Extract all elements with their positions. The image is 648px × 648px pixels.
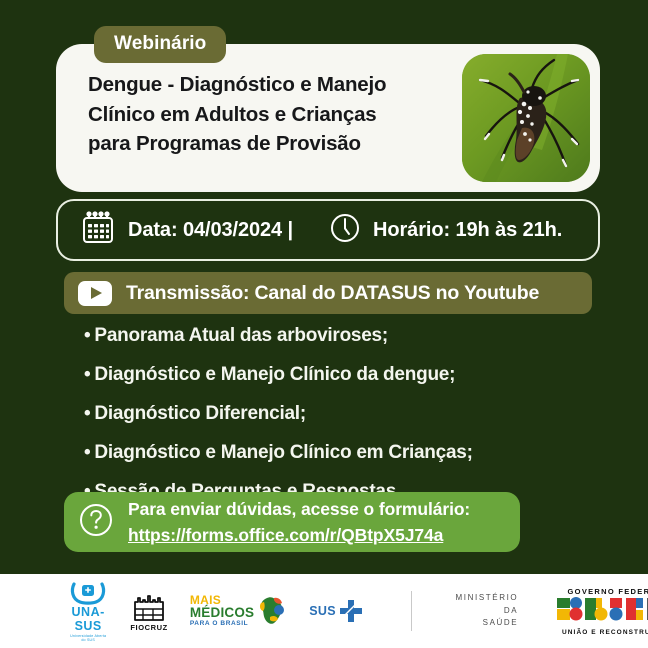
schedule-bar: Data: 04/03/2024 | Horário: 19h às 21h.	[56, 199, 600, 261]
unasus-mark-icon	[68, 581, 108, 605]
date-label: Data: 04/03/2024 |	[128, 219, 293, 242]
list-item: •Diagnóstico Diferencial;	[84, 404, 604, 423]
brasil-wordmark-icon	[556, 596, 648, 622]
institution-logos: UNA-SUS Universidade Aberta do SUS FIOCR…	[68, 581, 648, 642]
title-line-2: Clínico em Adultos e Crianças	[88, 100, 448, 130]
bullet-icon: •	[84, 364, 90, 385]
bullet-icon: •	[84, 442, 90, 463]
topic-label: Diagnóstico e Manejo Clínico em Crianças…	[94, 442, 472, 463]
form-cta[interactable]: Para enviar dúvidas, acesse o formulário…	[64, 492, 520, 552]
ministry-label: MINISTÉRIO DA SAÚDE	[456, 592, 519, 630]
sus-logo: SUS	[309, 599, 363, 623]
webinar-poster: Webinário Dengue - Diagnóstico e Manejo …	[0, 0, 648, 648]
mosquito-image	[462, 54, 590, 182]
list-item: •Diagnóstico e Manejo Clínico da dengue;	[84, 365, 604, 384]
form-link[interactable]: https://forms.office.com/r/QBtpX5J74a	[128, 525, 470, 546]
cta-text: Para enviar dúvidas, acesse o formulário…	[128, 499, 470, 546]
time-label: Horário: 19h às 21h.	[373, 219, 562, 242]
footer-divider	[411, 591, 412, 631]
topic-label: Panorama Atual das arboviroses;	[94, 325, 388, 346]
title-line-1: Dengue - Diagnóstico e Manejo	[88, 70, 448, 100]
list-item: •Panorama Atual das arboviroses;	[84, 326, 604, 345]
clock-icon	[329, 212, 361, 249]
youtube-play-icon	[78, 281, 112, 306]
unasus-logo: UNA-SUS Universidade Aberta do SUS	[68, 581, 108, 642]
broadcast-bar[interactable]: Transmissão: Canal do DATASUS no Youtube	[64, 272, 592, 314]
bullet-icon: •	[84, 325, 90, 346]
footer-logos: UNA-SUS Universidade Aberta do SUS FIOCR…	[0, 574, 648, 648]
ministry-line-1: MINISTÉRIO DA	[456, 592, 519, 618]
topic-label: Diagnóstico e Manejo Clínico da dengue;	[94, 364, 455, 385]
fiocruz-logo: FIOCRUZ	[130, 591, 168, 632]
bullet-icon: •	[84, 403, 90, 424]
webinar-badge: Webinário	[94, 26, 226, 63]
calendar-icon	[80, 210, 116, 251]
governo-federal-logo: GOVERNO FEDERAL	[556, 587, 648, 636]
unasus-tagline: Universidade Aberta do SUS	[68, 634, 108, 642]
brazil-map-icon	[257, 595, 287, 627]
mais-medicos-logo: MAIS MÉDICOS PARA O BRASIL	[190, 594, 287, 628]
fiocruz-name: FIOCRUZ	[130, 623, 168, 632]
page-title: Dengue - Diagnóstico e Manejo Clínico em…	[88, 70, 448, 159]
mais-medicos-line-3: PARA O BRASIL	[190, 620, 254, 628]
hero-section: Webinário Dengue - Diagnóstico e Manejo …	[56, 44, 600, 192]
title-line-3: para Programas de Provisão	[88, 129, 448, 159]
fiocruz-mark-icon	[132, 591, 166, 621]
topic-label: Diagnóstico Diferencial;	[94, 403, 306, 424]
cta-line-1: Para enviar dúvidas, acesse o formulário…	[128, 499, 470, 520]
ministry-line-2: SAÚDE	[456, 617, 519, 630]
mais-medicos-line-2: MÉDICOS	[190, 606, 254, 620]
question-mark-icon	[78, 502, 114, 543]
gov-bottom-label: UNIÃO E RECONSTRUÇÃO	[556, 629, 648, 636]
list-item: •Diagnóstico e Manejo Clínico em Criança…	[84, 443, 604, 462]
sus-name: SUS	[309, 604, 336, 618]
broadcast-label: Transmissão: Canal do DATASUS no Youtube	[126, 282, 539, 305]
sus-cross-icon	[339, 599, 363, 623]
unasus-name: UNA-SUS	[68, 605, 108, 633]
gov-top-label: GOVERNO FEDERAL	[556, 587, 648, 596]
